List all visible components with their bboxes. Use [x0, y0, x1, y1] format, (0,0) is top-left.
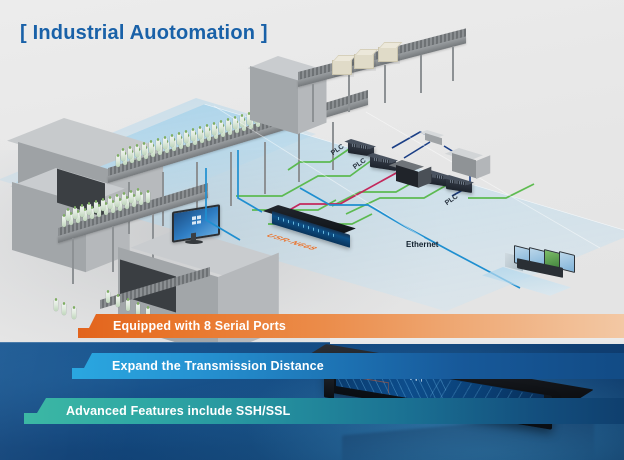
industrial-scene: PLC PLC PLC PLC: [0, 0, 624, 345]
plc-unit: [446, 176, 472, 189]
product-rack-ear: [324, 377, 334, 399]
ribbon-3-text: Advanced Features include SSH/SSL: [66, 404, 290, 418]
router-device: [425, 130, 445, 142]
control-console: [503, 245, 581, 295]
plc-unit: [348, 140, 374, 153]
feature-ribbon-transmission-distance: Expand the Transmission Distance: [72, 353, 624, 379]
usr-n668-device: [272, 205, 358, 231]
page-title: [ Industrial Auotomation ]: [20, 22, 268, 45]
feature-ribbon-serial-ports: Equipped with 8 Serial Ports: [78, 314, 624, 338]
illustration-canvas: [ Industrial Auotomation ]: [0, 0, 624, 460]
feature-ribbon-advanced-features: Advanced Features include SSH/SSL: [24, 398, 624, 424]
ribbon-2-text: Expand the Transmission Distance: [112, 359, 324, 373]
ribbon-1-text: Equipped with 8 Serial Ports: [113, 319, 286, 333]
ethernet-label: Ethernet: [406, 240, 438, 249]
